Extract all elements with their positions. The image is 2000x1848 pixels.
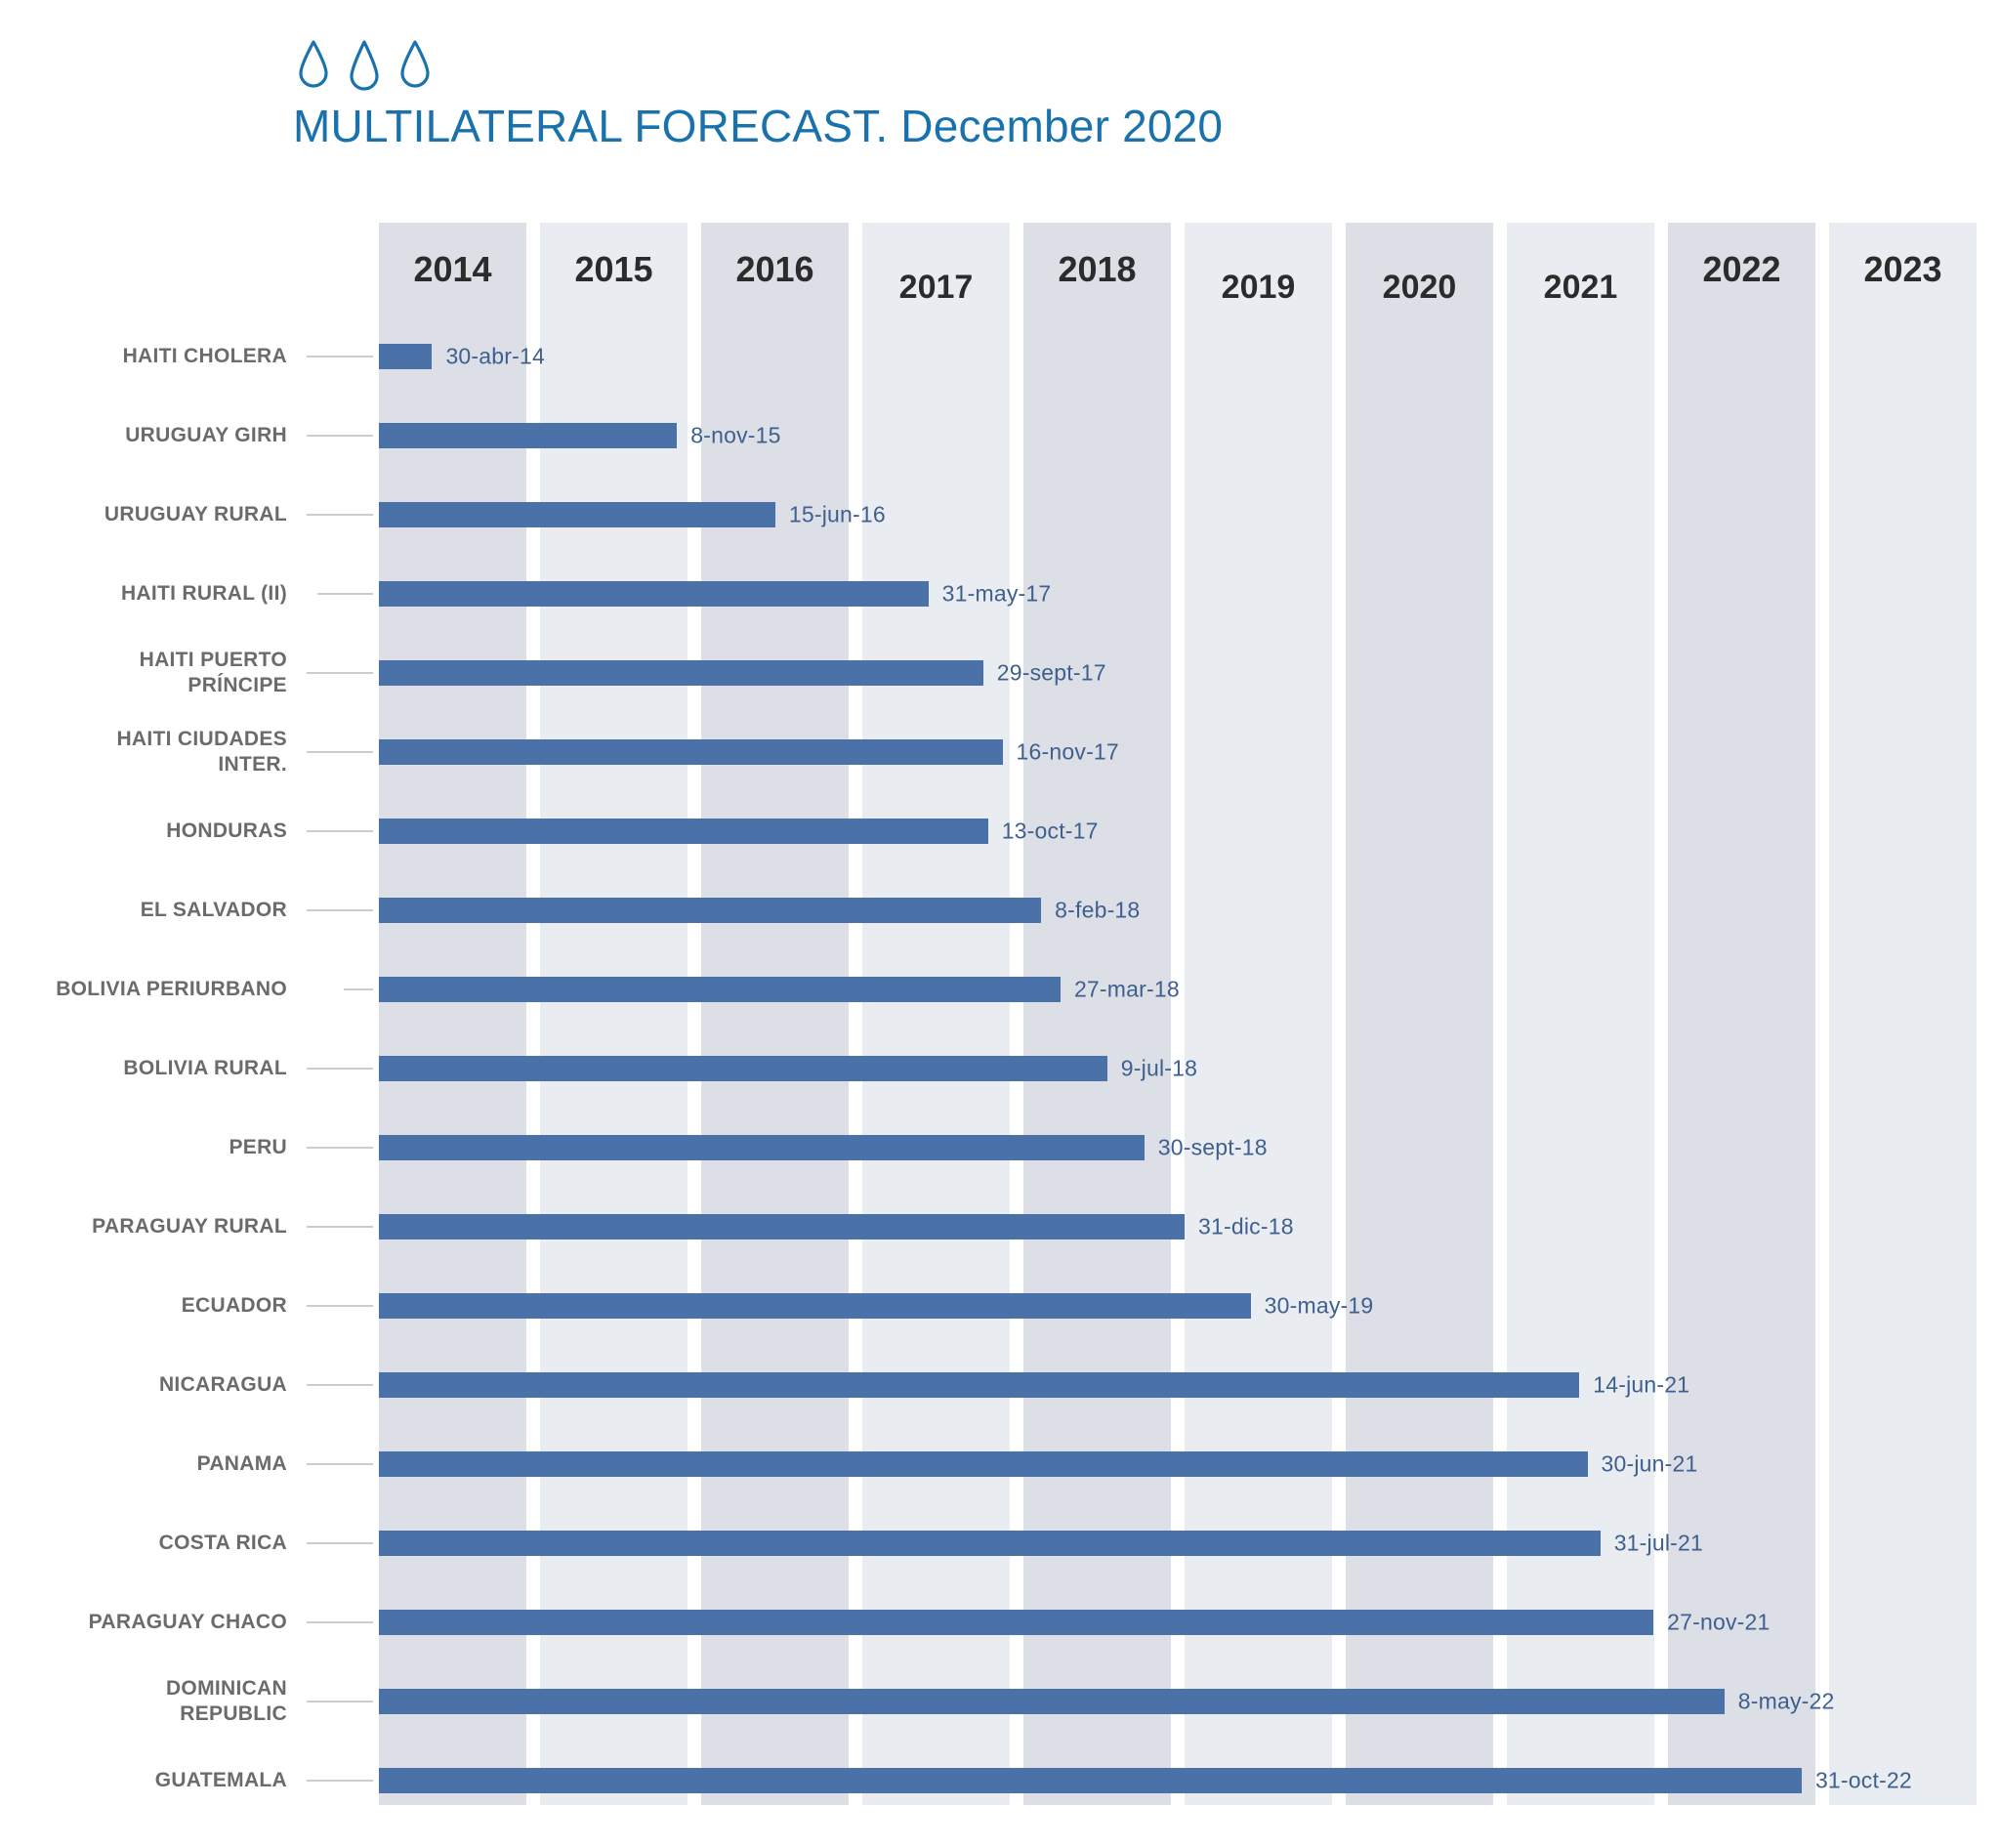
timeline-row[interactable]: COSTA RICA31-jul-21 (0, 1503, 2000, 1582)
year-tick-label: 2015 (540, 223, 687, 316)
timeline-row[interactable]: GUATEMALA31-oct-22 (0, 1741, 2000, 1820)
timeline-bar[interactable] (379, 344, 432, 369)
row-label: HAITI RURAL (II) (0, 554, 293, 633)
row-label-line: BOLIVIA PERIURBANO (56, 977, 287, 1002)
row-label-line: HAITI CHOLERA (123, 344, 287, 369)
row-label-container: PERU (0, 1108, 371, 1187)
timeline-chart: 2014201520162017201820192020202120222023… (0, 223, 2000, 1805)
timeline-row[interactable]: BOLIVIA PERIURBANO27-mar-18 (0, 949, 2000, 1029)
row-label-container: NICARAGUA (0, 1345, 371, 1424)
row-label-container: ECUADOR (0, 1266, 371, 1345)
bar-end-date-label: 27-nov-21 (1667, 1609, 1770, 1635)
row-label: GUATEMALA (0, 1741, 293, 1820)
bar-end-date-label: 29-sept-17 (997, 659, 1106, 686)
row-label: HAITI CHOLERA (0, 316, 293, 396)
year-tick-label: 2019 (1185, 223, 1332, 316)
row-label-line: BOLIVIA RURAL (123, 1056, 287, 1081)
timeline-bar[interactable] (379, 1214, 1185, 1239)
bar-end-date-label: 30-sept-18 (1158, 1134, 1268, 1160)
bar-end-date-label: 30-jun-21 (1602, 1450, 1698, 1477)
timeline-bar[interactable] (379, 581, 929, 607)
timeline-row[interactable]: URUGUAY GIRH8-nov-15 (0, 396, 2000, 475)
bar-end-date-label: 15-jun-16 (789, 501, 886, 527)
timeline-bar[interactable] (379, 1531, 1601, 1556)
row-label: HAITI CIUDADESINTER. (0, 712, 293, 791)
timeline-bar[interactable] (379, 1293, 1251, 1319)
timeline-row[interactable]: PANAMA30-jun-21 (0, 1424, 2000, 1503)
row-label-line: PARAGUAY CHACO (89, 1610, 287, 1635)
row-label: URUGUAY GIRH (0, 396, 293, 475)
bar-end-date-label: 8-nov-15 (690, 422, 780, 448)
year-tick-label: 2016 (701, 223, 849, 316)
row-label-container: URUGUAY GIRH (0, 396, 371, 475)
row-label-line: HAITI PUERTO (140, 648, 287, 673)
row-label-container: GUATEMALA (0, 1741, 371, 1820)
row-label: COSTA RICA (0, 1503, 293, 1582)
row-label-line: HAITI RURAL (II) (121, 581, 287, 607)
year-tick-label: 2014 (379, 223, 526, 316)
row-label: BOLIVIA PERIURBANO (0, 949, 293, 1029)
row-label-container: BOLIVIA RURAL (0, 1029, 371, 1108)
row-label-container: PARAGUAY CHACO (0, 1582, 371, 1661)
bar-end-date-label: 31-may-17 (942, 580, 1052, 607)
droplet-icon-group (293, 39, 1223, 94)
row-label: HONDURAS (0, 791, 293, 870)
row-label-container: COSTA RICA (0, 1503, 371, 1582)
timeline-row[interactable]: URUGUAY RURAL15-jun-16 (0, 475, 2000, 554)
row-label-container: HAITI CIUDADESINTER. (0, 712, 371, 791)
water-droplet-icon (348, 39, 381, 94)
year-tick-label: 2022 (1668, 223, 1815, 316)
row-label: BOLIVIA RURAL (0, 1029, 293, 1108)
row-label: URUGUAY RURAL (0, 475, 293, 554)
timeline-row[interactable]: HAITI CIUDADESINTER.16-nov-17 (0, 712, 2000, 791)
timeline-bar[interactable] (379, 1056, 1107, 1081)
page-title: MULTILATERAL FORECAST. December 2020 (293, 100, 1223, 152)
timeline-bar[interactable] (379, 423, 677, 448)
row-label-container: PARAGUAY RURAL (0, 1187, 371, 1266)
timeline-row[interactable]: BOLIVIA RURAL9-jul-18 (0, 1029, 2000, 1108)
row-label: EL SALVADOR (0, 870, 293, 949)
timeline-row[interactable]: DOMINICANREPUBLIC8-may-22 (0, 1661, 2000, 1741)
row-label-container: HAITI RURAL (II) (0, 554, 371, 633)
year-tick-label: 2018 (1023, 223, 1171, 316)
row-label: PANAMA (0, 1424, 293, 1503)
timeline-row[interactable]: PARAGUAY CHACO27-nov-21 (0, 1582, 2000, 1661)
row-label-container: HAITI CHOLERA (0, 316, 371, 396)
row-label-line: HAITI CIUDADES (116, 727, 287, 752)
row-label-line: EL SALVADOR (141, 898, 287, 923)
bar-end-date-label: 9-jul-18 (1121, 1055, 1197, 1081)
row-label: NICARAGUA (0, 1345, 293, 1424)
row-label-container: BOLIVIA PERIURBANO (0, 949, 371, 1029)
timeline-row[interactable]: PERU30-sept-18 (0, 1108, 2000, 1187)
timeline-bar[interactable] (379, 1451, 1588, 1477)
timeline-bar[interactable] (379, 1689, 1725, 1714)
timeline-bar[interactable] (379, 660, 983, 686)
bar-end-date-label: 13-oct-17 (1002, 818, 1099, 844)
row-label-line: PARAGUAY RURAL (92, 1214, 287, 1239)
timeline-bar[interactable] (379, 1372, 1579, 1398)
row-label-line: PRÍNCIPE (187, 673, 287, 698)
row-label-container: PANAMA (0, 1424, 371, 1503)
bar-end-date-label: 30-abr-14 (445, 343, 545, 369)
timeline-bar[interactable] (379, 1135, 1145, 1160)
row-label: HAITI PUERTOPRÍNCIPE (0, 633, 293, 712)
timeline-bar[interactable] (379, 898, 1041, 923)
row-label-line: HONDURAS (166, 819, 287, 844)
timeline-rows: HAITI CHOLERA30-abr-14URUGUAY GIRH8-nov-… (0, 316, 2000, 1820)
row-label-line: ECUADOR (182, 1293, 287, 1319)
row-label: PARAGUAY CHACO (0, 1582, 293, 1661)
row-label-line: NICARAGUA (159, 1372, 287, 1398)
timeline-bar[interactable] (379, 1768, 1802, 1793)
row-label-container: HONDURAS (0, 791, 371, 870)
timeline-bar[interactable] (379, 1610, 1653, 1635)
bar-end-date-label: 14-jun-21 (1593, 1371, 1689, 1398)
chart-header: MULTILATERAL FORECAST. December 2020 (293, 39, 1223, 152)
timeline-row[interactable]: ECUADOR30-may-19 (0, 1266, 2000, 1345)
row-label-line: REPUBLIC (180, 1701, 287, 1727)
timeline-row[interactable]: HAITI CHOLERA30-abr-14 (0, 316, 2000, 396)
bar-end-date-label: 27-mar-18 (1074, 976, 1180, 1002)
row-label: PARAGUAY RURAL (0, 1187, 293, 1266)
row-label: DOMINICANREPUBLIC (0, 1661, 293, 1741)
row-label-line: URUGUAY GIRH (125, 423, 287, 448)
bar-end-date-label: 31-dic-18 (1198, 1213, 1294, 1239)
row-label-container: HAITI PUERTOPRÍNCIPE (0, 633, 371, 712)
row-label-line: DOMINICAN (166, 1676, 287, 1701)
timeline-bar[interactable] (379, 739, 1003, 765)
water-droplet-icon (297, 39, 330, 90)
bar-end-date-label: 31-oct-22 (1815, 1767, 1912, 1793)
bar-end-date-label: 16-nov-17 (1017, 738, 1119, 765)
year-tick-label: 2023 (1829, 223, 1977, 316)
chart-page: MULTILATERAL FORECAST. December 2020 201… (0, 0, 2000, 1848)
bar-end-date-label: 30-may-19 (1265, 1292, 1374, 1319)
bar-end-date-label: 31-jul-21 (1614, 1530, 1703, 1556)
year-tick-label: 2021 (1507, 223, 1654, 316)
row-label-line: URUGUAY RURAL (104, 502, 287, 527)
row-label: ECUADOR (0, 1266, 293, 1345)
row-label-line: COSTA RICA (159, 1531, 287, 1556)
timeline-row[interactable]: HAITI RURAL (II)31-may-17 (0, 554, 2000, 633)
timeline-bar[interactable] (379, 502, 775, 527)
row-label: PERU (0, 1108, 293, 1187)
year-tick-label: 2017 (862, 223, 1010, 316)
timeline-row[interactable]: PARAGUAY RURAL31-dic-18 (0, 1187, 2000, 1266)
row-label-line: INTER. (218, 752, 287, 777)
water-droplet-icon (398, 39, 432, 90)
timeline-row[interactable]: HAITI PUERTOPRÍNCIPE29-sept-17 (0, 633, 2000, 712)
row-label-container: EL SALVADOR (0, 870, 371, 949)
timeline-row[interactable]: NICARAGUA14-jun-21 (0, 1345, 2000, 1424)
row-label-line: PANAMA (197, 1451, 287, 1477)
bar-end-date-label: 8-may-22 (1738, 1688, 1835, 1714)
row-label-container: URUGUAY RURAL (0, 475, 371, 554)
bar-end-date-label: 8-feb-18 (1055, 897, 1140, 923)
timeline-bar[interactable] (379, 819, 988, 844)
row-label-container: DOMINICANREPUBLIC (0, 1661, 371, 1741)
timeline-row[interactable]: HONDURAS13-oct-17 (0, 791, 2000, 870)
row-label-line: PERU (229, 1135, 287, 1160)
timeline-row[interactable]: EL SALVADOR8-feb-18 (0, 870, 2000, 949)
timeline-bar[interactable] (379, 977, 1061, 1002)
year-axis-header: 2014201520162017201820192020202120222023 (0, 223, 2000, 316)
row-label-line: GUATEMALA (155, 1768, 287, 1793)
year-tick-label: 2020 (1346, 223, 1493, 316)
